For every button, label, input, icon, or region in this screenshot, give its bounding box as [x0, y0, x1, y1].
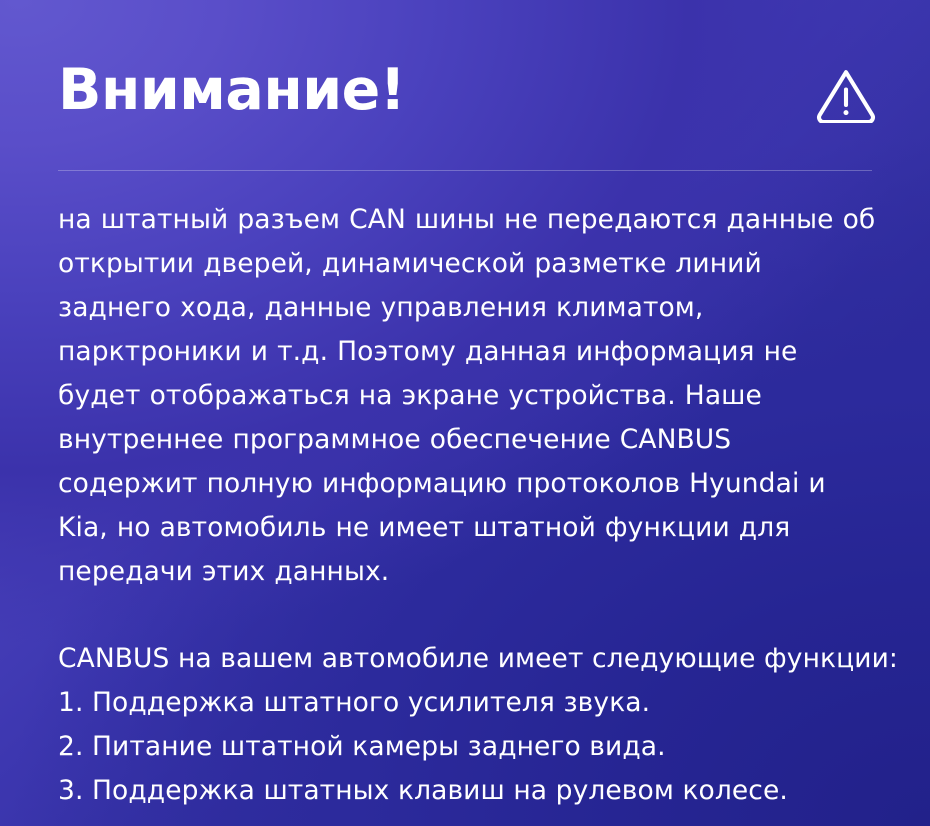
- notice-header: Внимание!: [0, 0, 930, 171]
- intro-paragraph: на штатный разъем CAN шины не передаются…: [58, 198, 876, 594]
- header-divider: [58, 170, 872, 171]
- warning-triangle-icon: [815, 67, 877, 123]
- notice-body: на штатный разъем CAN шины не передаются…: [58, 198, 880, 813]
- functions-intro: CANBUS на вашем автомобиле имеет следующ…: [58, 637, 880, 681]
- functions-block: CANBUS на вашем автомобиле имеет следующ…: [58, 637, 880, 813]
- warning-notice-card: Внимание! на штатный разъем CAN шины не …: [0, 0, 930, 826]
- list-item: 3. Поддержка штатных клавиш на рулевом к…: [58, 769, 880, 813]
- list-item: 1. Поддержка штатного усилителя звука.: [58, 681, 880, 725]
- page-title: Внимание!: [58, 58, 405, 122]
- functions-list: 1. Поддержка штатного усилителя звука. 2…: [58, 681, 880, 813]
- list-item: 2. Питание штатной камеры заднего вида.: [58, 725, 880, 769]
